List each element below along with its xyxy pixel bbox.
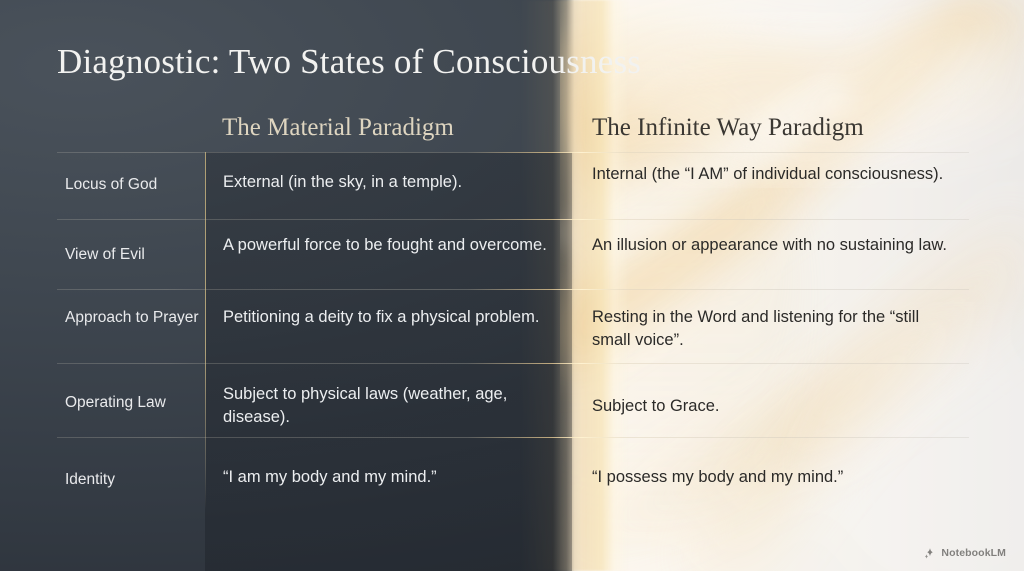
row-cell-material: External (in the sky, in a temple). [223, 171, 553, 194]
row-cell-material: Subject to physical laws (weather, age, … [223, 383, 553, 429]
slide-canvas: Diagnostic: Two States of Consciousness … [0, 0, 1024, 571]
row-cell-infinite: Resting in the Word and listening for th… [592, 306, 962, 352]
row-cell-material: “I am my body and my mind.” [223, 466, 553, 489]
comparison-table: Locus of God External (in the sky, in a … [57, 152, 969, 510]
row-label: Identity [65, 469, 199, 490]
row-cell-infinite: “I possess my body and my mind.” [592, 466, 962, 489]
row-label: View of Evil [65, 244, 199, 265]
table-row: Operating Law Subject to physical laws (… [57, 363, 969, 437]
row-cell-infinite: Internal (the “I AM” of individual consc… [592, 163, 962, 186]
table-row: Approach to Prayer Petitioning a deity t… [57, 289, 969, 363]
row-cell-infinite: Subject to Grace. [592, 395, 962, 418]
row-label: Approach to Prayer [65, 307, 199, 328]
column-header-infinite: The Infinite Way Paradigm [592, 112, 864, 144]
row-label: Locus of God [65, 174, 199, 195]
table-row: Locus of God External (in the sky, in a … [57, 152, 969, 219]
notebooklm-spark-icon [924, 547, 936, 559]
column-header-material: The Material Paradigm [222, 112, 454, 144]
row-cell-material: Petitioning a deity to fix a physical pr… [223, 306, 553, 329]
row-cell-material: A powerful force to be fought and overco… [223, 234, 553, 257]
table-row: View of Evil A powerful force to be foug… [57, 219, 969, 289]
notebooklm-watermark-label: NotebookLM [941, 547, 1006, 559]
table-row: Identity “I am my body and my mind.” “I … [57, 437, 969, 510]
row-label: Operating Law [65, 392, 199, 413]
notebooklm-watermark: NotebookLM [924, 547, 1006, 559]
row-cell-infinite: An illusion or appearance with no sustai… [592, 234, 962, 257]
page-title: Diagnostic: Two States of Consciousness [57, 40, 641, 84]
